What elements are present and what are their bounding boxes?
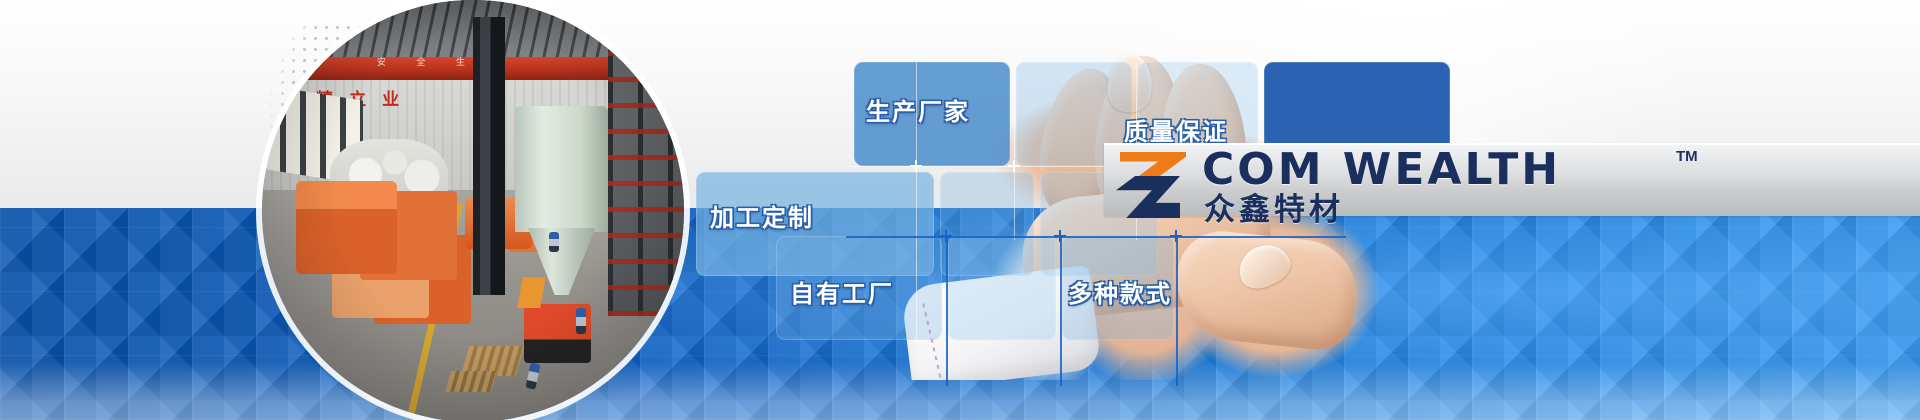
tile-custom-label: 加工定制 bbox=[710, 198, 814, 233]
grid-node-accent bbox=[1054, 230, 1066, 242]
grid-line-vertical-accent bbox=[1060, 236, 1062, 386]
grid-node bbox=[1008, 160, 1020, 172]
trademark-symbol: TM bbox=[1676, 148, 1698, 165]
factory-interior-photo: 安 全 生 产 以精立业 bbox=[262, 0, 684, 420]
grid-line-vertical bbox=[916, 62, 917, 342]
grid-line-vertical-accent bbox=[946, 236, 948, 386]
grid-node-accent bbox=[940, 230, 952, 242]
grid-node bbox=[910, 160, 922, 172]
photo-vignette bbox=[262, 0, 684, 420]
promo-banner: 安 全 生 产 以精立业 bbox=[0, 0, 1920, 420]
logo-english-text: COM WEALTH bbox=[1202, 148, 1561, 192]
grid-line-vertical-accent bbox=[1176, 236, 1178, 386]
grid-line-vertical bbox=[1014, 62, 1015, 240]
grid-line-horizontal-accent bbox=[846, 236, 1346, 238]
photo-content: 安 全 生 产 以精立业 bbox=[262, 0, 684, 420]
logo-chinese-text: 众鑫特材 bbox=[1204, 194, 1344, 225]
grid-node-accent bbox=[1170, 230, 1182, 242]
brand-logo[interactable]: COM WEALTH TM 众鑫特材 bbox=[1116, 146, 1816, 226]
mark-navy-z bbox=[1116, 176, 1180, 218]
com-wealth-z-mark-icon bbox=[1116, 152, 1188, 218]
